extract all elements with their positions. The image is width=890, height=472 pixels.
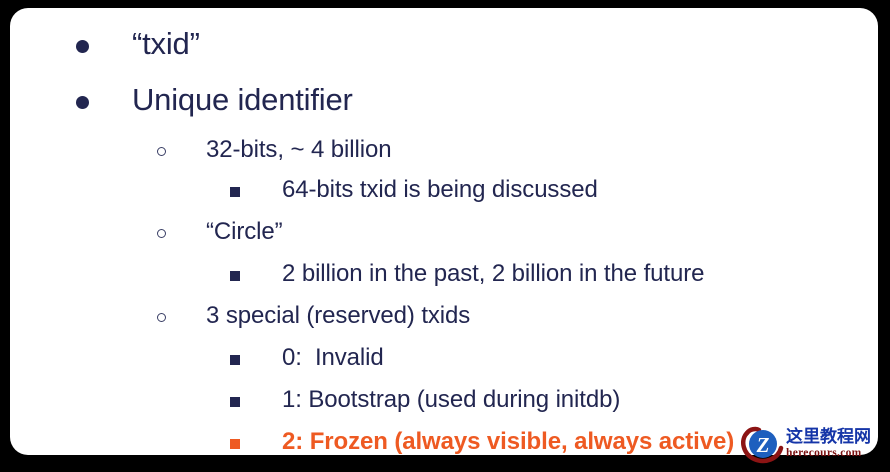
list-item[interactable]: 0: Invalid [10,340,878,380]
list-item[interactable]: 3 special (reserved) txids [10,298,878,338]
list-item-label: 64-bits txid is being discussed [282,172,598,208]
list-item-label: 3 special (reserved) txids [206,298,470,334]
watermark-site-url: herecours.com [786,448,871,460]
slide-root: “txid” Unique identifier 32-bits, ~ 4 bi… [0,0,890,470]
bullet-list: “txid” Unique identifier 32-bits, ~ 4 bi… [10,8,878,455]
bullet-square-icon [230,397,240,407]
slide-card: “txid” Unique identifier 32-bits, ~ 4 bi… [10,8,878,455]
list-item[interactable]: 32-bits, ~ 4 billion [10,132,878,172]
bullet-circle-icon [157,313,166,322]
watermark[interactable]: Z 这里教程网 herecours.com [738,418,890,470]
list-item[interactable]: “Circle” [10,214,878,254]
list-item-label: 0: Invalid [282,340,384,376]
list-item-label: 1: Bootstrap (used during initdb) [282,382,620,418]
list-item-label: 32-bits, ~ 4 billion [206,132,391,168]
list-item-label: Unique identifier [132,78,353,122]
bullet-disc-icon [76,96,89,109]
list-item[interactable]: “txid” [10,22,878,72]
bullet-circle-icon [157,147,166,156]
watermark-logo-svg: Z [738,421,784,467]
bullet-square-icon [230,187,240,197]
watermark-site-name: 这里教程网 [786,429,871,446]
bullet-disc-icon [76,40,89,53]
list-item-label: 2 billion in the past, 2 billion in the … [282,256,704,292]
watermark-logo-icon: Z [738,421,784,467]
list-item-label: “txid” [132,22,200,66]
bullet-square-icon [230,355,240,365]
bullet-square-icon [230,271,240,281]
list-item[interactable]: 1: Bootstrap (used during initdb) [10,382,878,422]
list-item[interactable]: Unique identifier [10,78,878,128]
bullet-square-accent-icon [230,439,240,449]
list-item-label: “Circle” [206,214,283,250]
list-item[interactable]: 64-bits txid is being discussed [10,172,878,212]
watermark-text-block: 这里教程网 herecours.com [786,429,871,460]
bullet-circle-icon [157,229,166,238]
list-item[interactable]: 2 billion in the past, 2 billion in the … [10,256,878,296]
logo-letter: Z [756,433,770,457]
list-item-label: 2: Frozen (always visible, always active… [282,424,734,455]
